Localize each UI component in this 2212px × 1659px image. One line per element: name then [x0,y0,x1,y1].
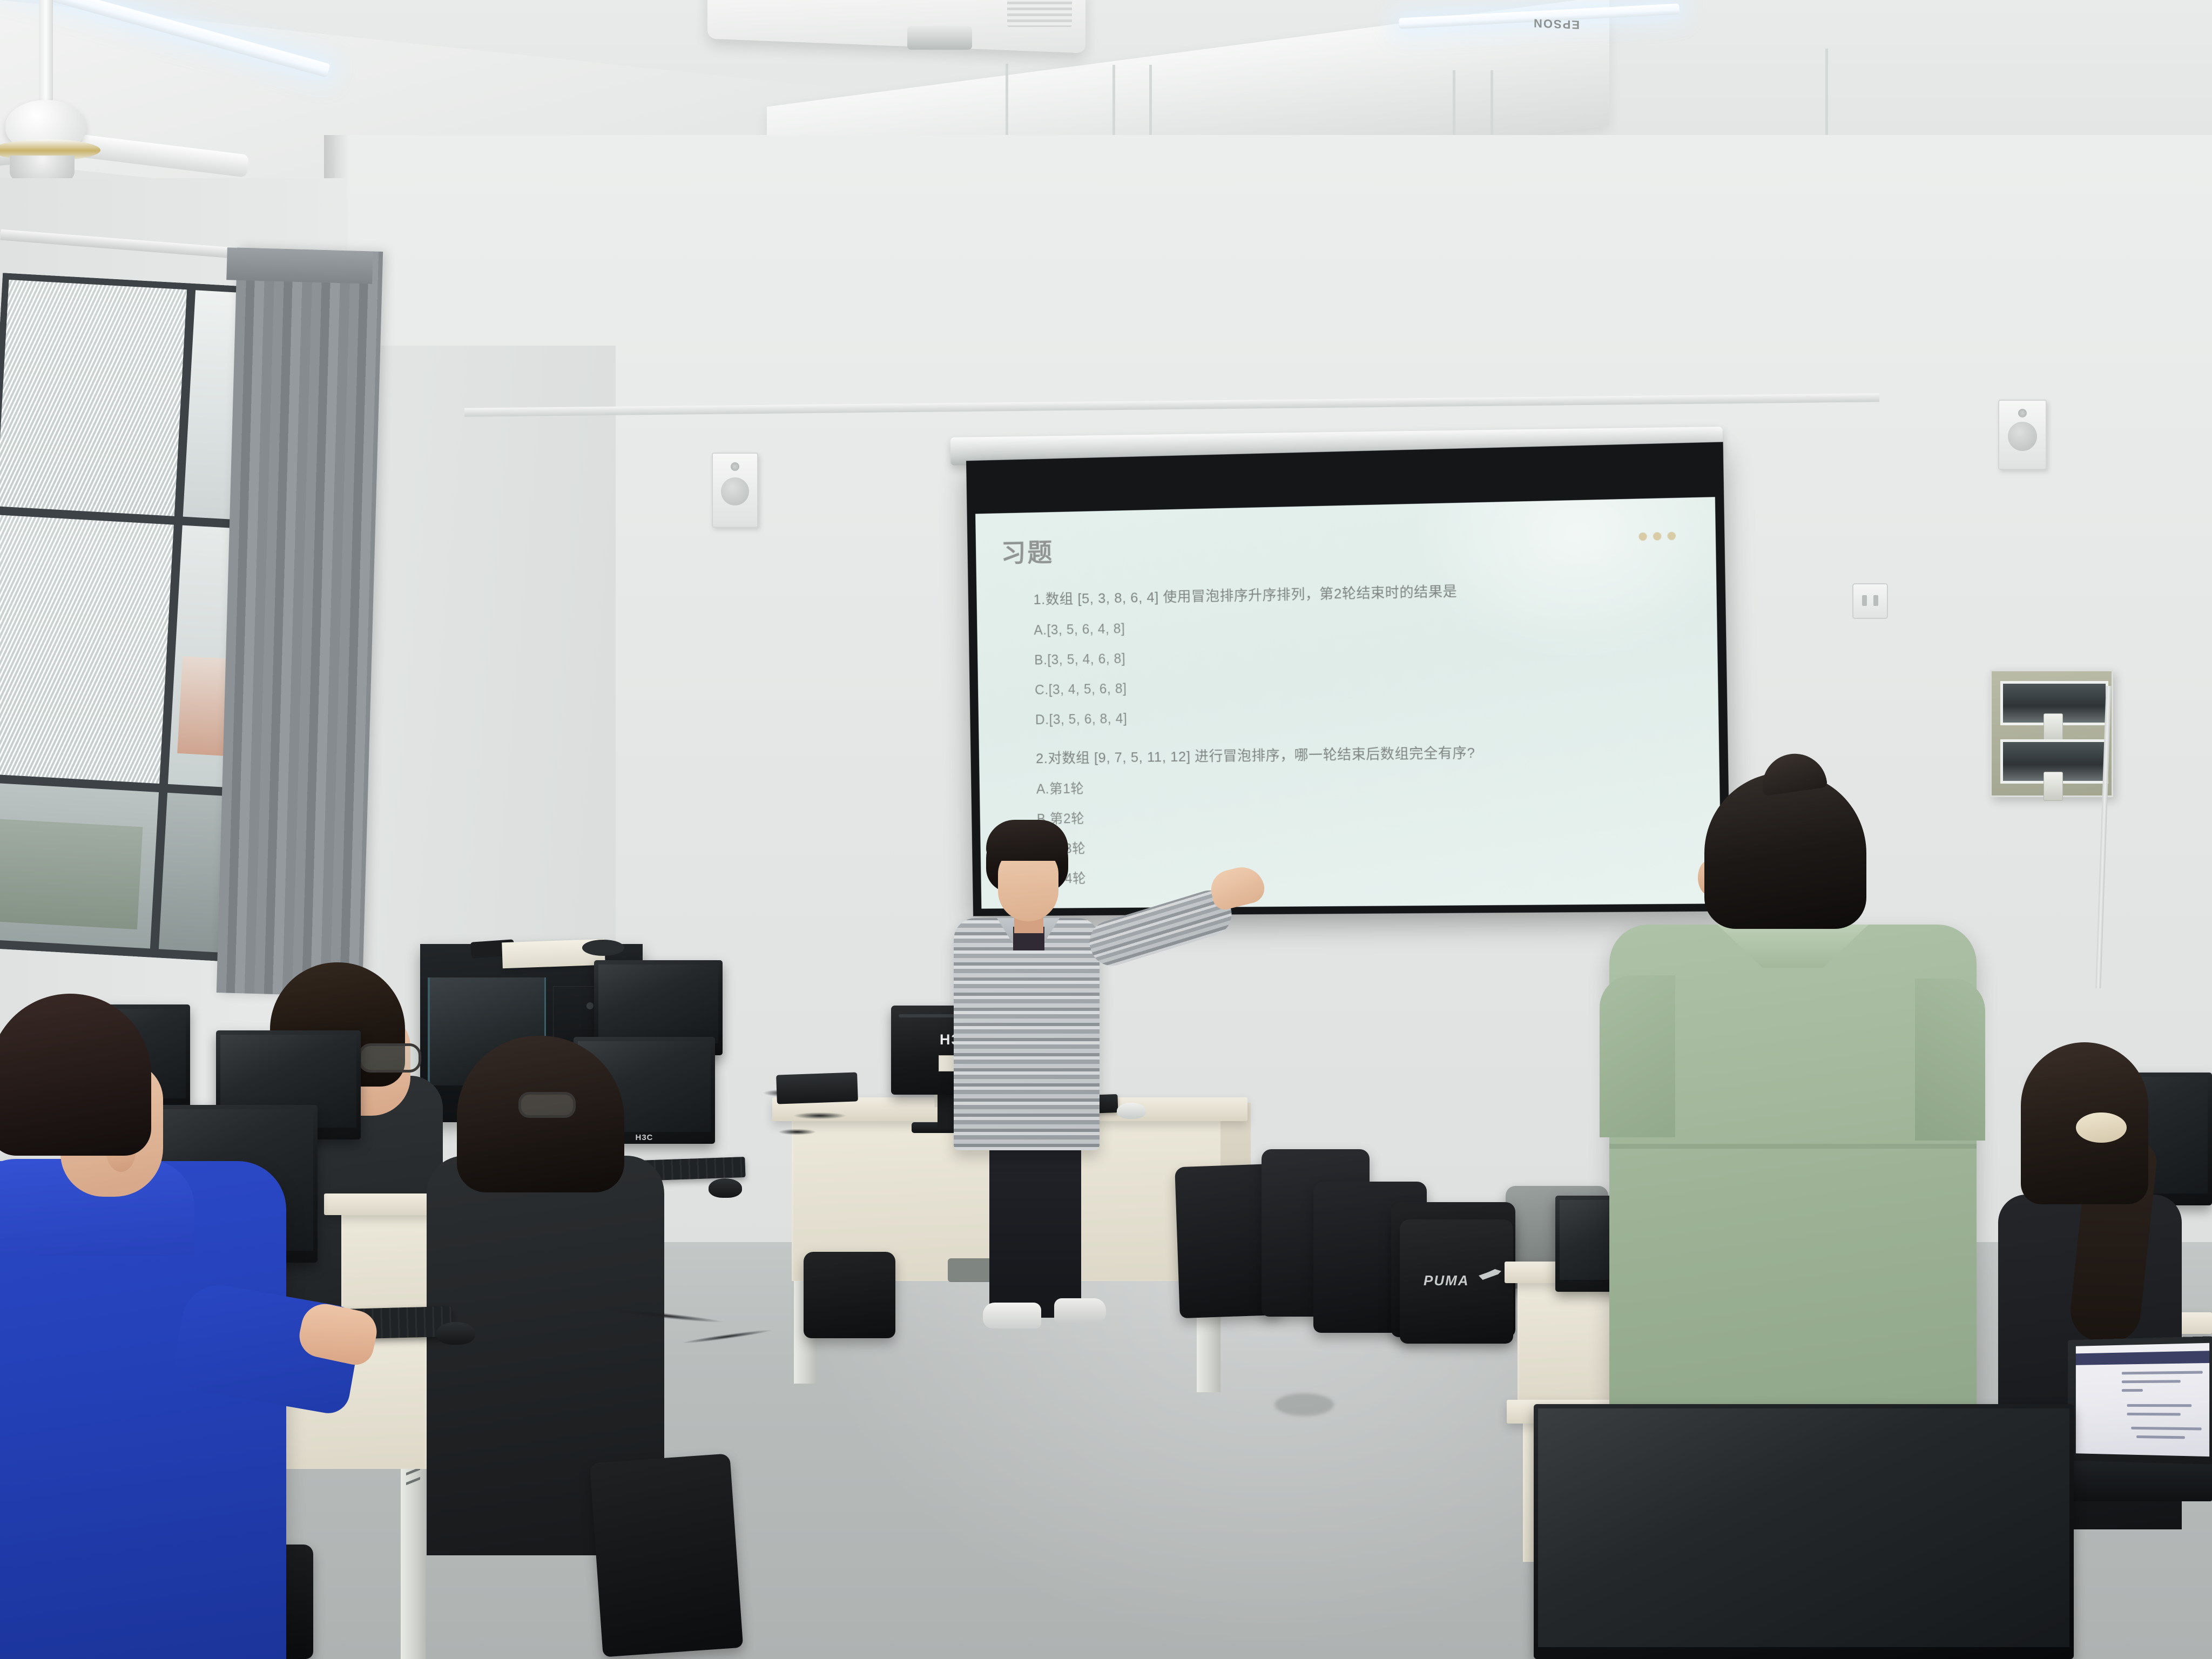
projector-lens-icon [907,26,972,50]
classroom-scene: EPSON 习题 [0,0,2212,1659]
question-1-option-c: C.[3, 4, 5, 6, 8] [1035,673,1696,697]
eyeglasses [518,1092,576,1118]
slide-decoration-dots [1638,532,1676,541]
teacher-fringe [986,820,1068,861]
speaker-cone-icon [721,477,749,505]
question-2-option-b: B.第2轮 [1037,806,1698,826]
question-2-option-c: C.第3轮 [1037,837,1698,856]
curtain-top-fold [226,247,373,284]
question-1-option-b: B.[3, 5, 4, 6, 8] [1034,643,1695,667]
window-pane [0,280,187,516]
wall-power-outlet[interactable] [1852,583,1888,619]
slide-body: 1.数组 [5, 3, 8, 6, 4] 使用冒泡排序升序排列，第2轮结束时的结… [1033,579,1699,902]
student-hair [1704,772,1866,929]
wall-speaker-icon [1998,400,2047,470]
network-device[interactable] [776,1072,858,1104]
shoe [983,1303,1041,1328]
text-line [2122,1389,2143,1392]
student-hair [0,994,151,1156]
floor-stain [1274,1393,1334,1416]
student-monitor-foreground[interactable] [1534,1404,2074,1659]
curtain[interactable] [217,247,383,996]
speaker-tweeter-icon [731,462,739,471]
decor-dot-icon [1653,532,1662,541]
projector-brand-label: EPSON [1533,16,1580,31]
misc-object [582,940,624,956]
slide-content: 习题 1.数组 [5, 3, 8, 6, 4] 使用冒泡排序升序排列，第2轮结束… [975,497,1722,908]
student-shoulder [1600,975,1675,1137]
question-2-stem: 2.对数组 [9, 7, 5, 11, 12] 进行冒泡排序，哪一轮结束后数组完… [1036,743,1697,765]
decor-dot-icon [1638,532,1647,541]
monitor-screen [598,965,718,1043]
mouse[interactable] [709,1178,742,1198]
student-shoulder [1915,979,1985,1141]
cabinet-knob-icon[interactable] [586,1002,594,1009]
laptop-screen [2076,1343,2209,1456]
wall-speaker-icon [712,453,758,528]
text-line [2136,1435,2185,1439]
question-1-option-a: A.[3, 5, 6, 4, 8] [1034,612,1695,637]
monitor-screen [1538,1408,2069,1647]
jacket-seam [1609,1144,1977,1149]
backpack[interactable] [804,1252,895,1338]
slide-title: 习题 [1001,531,1054,569]
mouse[interactable] [436,1322,475,1345]
question-2-option-a: A.第1轮 [1036,775,1697,796]
window-foliage-view [0,818,143,929]
laptop[interactable] [2068,1336,2212,1465]
puma-brand-label: PUMA [1424,1272,1469,1289]
shoe [1054,1298,1106,1323]
projection-screen: 习题 1.数组 [5, 3, 8, 6, 4] 使用冒泡排序升序排列，第2轮结束… [966,442,1730,916]
text-line [2131,1427,2201,1431]
teacher-legs [989,1139,1081,1318]
decor-dot-icon [1668,532,1676,541]
text-line [2122,1371,2203,1375]
breaker-switch[interactable] [2044,772,2063,801]
eyeglasses [359,1043,421,1073]
question-2-option-d: D.第4轮 [1037,867,1699,886]
ceiling-fan-rod [39,0,53,108]
backpack[interactable] [590,1453,743,1657]
speaker-cone-icon [2008,422,2037,451]
speaker-tweeter-icon [2018,409,2027,417]
question-1-option-d: D.[3, 5, 6, 8, 4] [1035,704,1696,727]
teacher-torso [954,918,1100,1150]
breaker-switch[interactable] [2044,713,2063,743]
hair-scrunchie [2076,1112,2127,1143]
text-line [2127,1404,2192,1407]
text-line [2122,1380,2181,1383]
mouse[interactable] [1117,1103,1146,1119]
window-pane [0,515,174,784]
question-1-stem: 1.数组 [5, 3, 8, 6, 4] 使用冒泡排序升序排列，第2轮结束时的结… [1033,579,1694,606]
text-line [2127,1413,2181,1416]
browser-titlebar [2076,1351,2209,1365]
question-2-block: 2.对数组 [9, 7, 5, 11, 12] 进行冒泡排序，哪一轮结束后数组完… [1036,743,1699,886]
projector-vent-icon [1007,0,1072,27]
electrical-breaker-panel[interactable] [1990,670,2113,797]
